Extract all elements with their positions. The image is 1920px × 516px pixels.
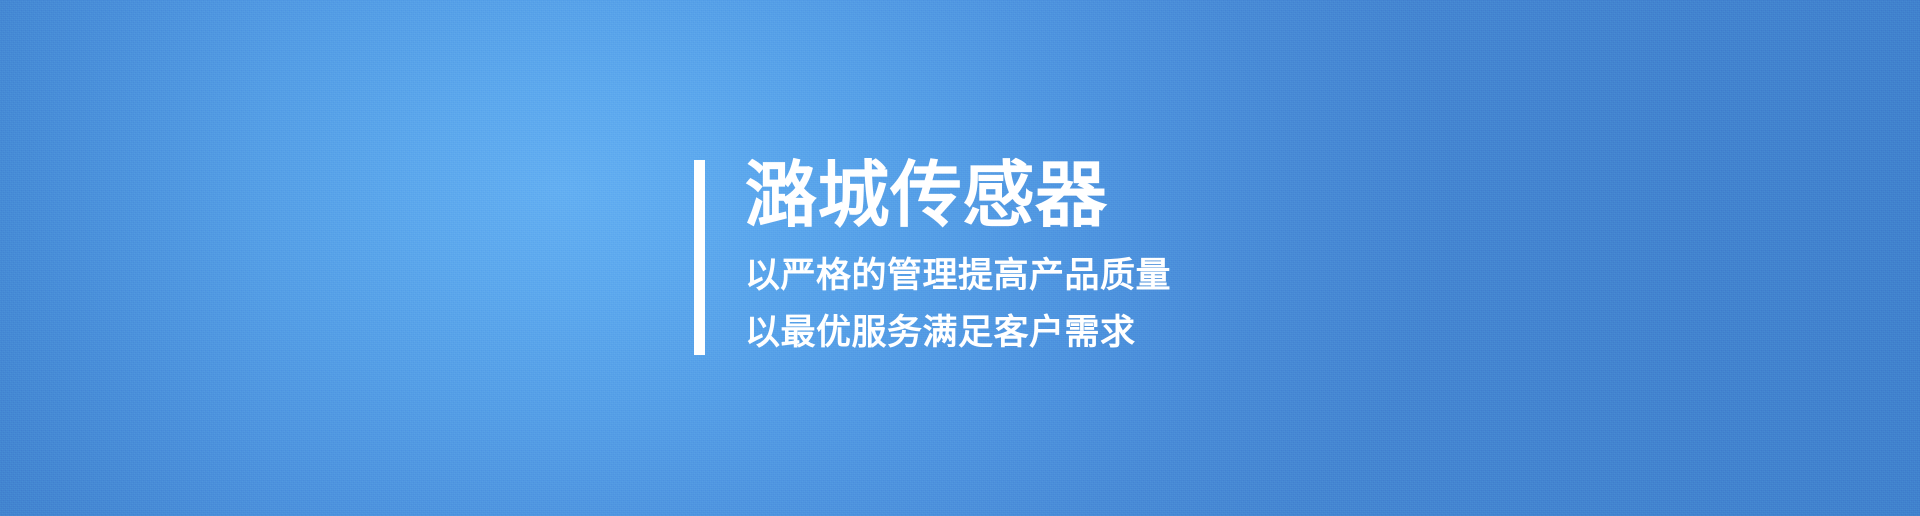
hero-subtitle-line-1: 以严格的管理提高产品质量 <box>745 258 1171 293</box>
vertical-accent-bar <box>694 160 705 355</box>
hero-subtitle-line-2: 以最优服务满足客户需求 <box>745 315 1171 350</box>
hero-content: 潞城传感器 以严格的管理提高产品质量 以最优服务满足客户需求 <box>694 160 1171 355</box>
hero-subtitle-list: 以严格的管理提高产品质量 以最优服务满足客户需求 <box>745 258 1171 350</box>
page-title: 潞城传感器 <box>745 160 1171 232</box>
hero-text-block: 潞城传感器 以严格的管理提高产品质量 以最优服务满足客户需求 <box>745 160 1171 355</box>
hero-banner: 潞城传感器 以严格的管理提高产品质量 以最优服务满足客户需求 <box>0 0 1920 516</box>
